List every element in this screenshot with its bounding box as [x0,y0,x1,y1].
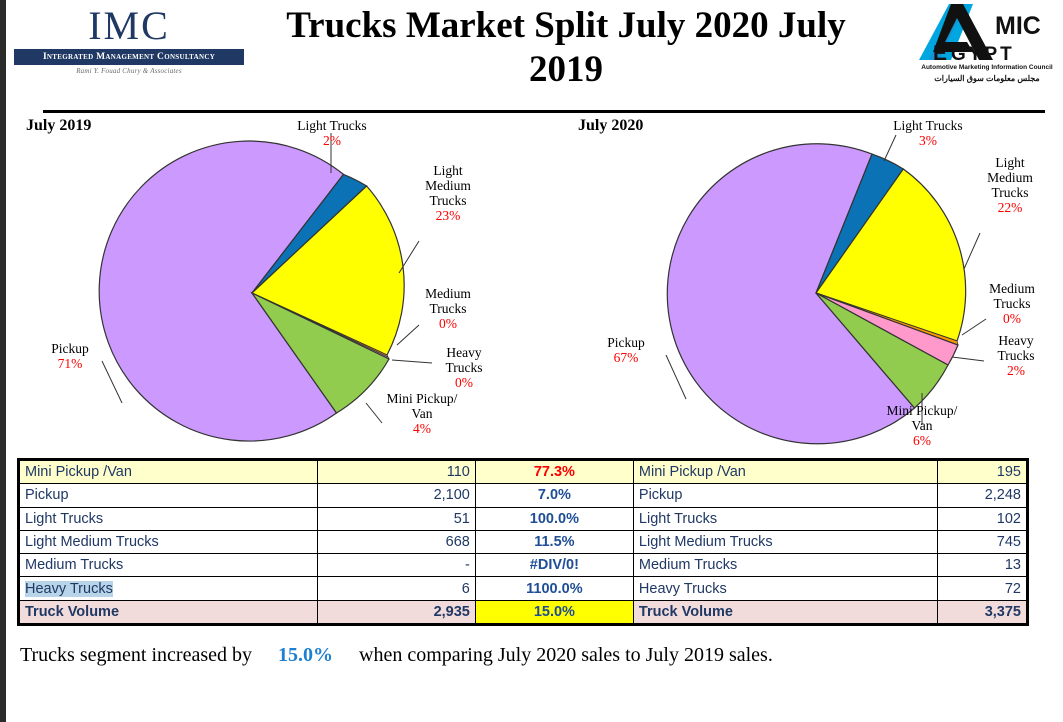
cell-name-left: Light Trucks [20,507,318,530]
svg-text:E: E [933,42,947,65]
amic-a-icon: MIC GYPT E [911,2,1063,66]
summary-part1: Trucks segment increased by [20,644,252,666]
cell-value-2020: 745 [937,530,1026,553]
cell-name-right: Heavy Trucks [633,577,937,600]
comparison-table: Mini Pickup /Van 110 77.3% Mini Pickup /… [17,458,1029,626]
pie-left-label-medium-trucks: Medium Trucks 0% [400,286,496,331]
pie-left-label-pickup: Pickup 71% [32,341,108,371]
summary-part2: when comparing July 2020 sales to July 2… [359,644,773,666]
imc-wordmark: IMC [14,4,244,48]
table-row[interactable]: Light Medium Trucks 668 11.5% Light Medi… [20,530,1027,553]
cell-name-left: Heavy Trucks [20,577,318,600]
amic-tagline-ar: مجلس معلومات سوق السيارات [911,74,1063,83]
cell-change: 11.5% [475,530,633,553]
table-row[interactable]: Pickup 2,100 7.0% Pickup 2,248 [20,484,1027,507]
cell-value-2020: 72 [937,577,1026,600]
svg-text:GYPT: GYPT [951,44,1015,65]
imc-banner-text: Integrated Management Consultancy [14,49,244,65]
table-row[interactable]: Medium Trucks - #DIV/0! Medium Trucks 13 [20,554,1027,577]
charts-region: July 2019 [6,113,1063,453]
table-row[interactable]: Mini Pickup /Van 110 77.3% Mini Pickup /… [20,461,1027,484]
cell-value-2019: 110 [317,461,475,484]
pie-right-label-light-medium-trucks: Light Medium Trucks 22% [962,155,1058,215]
cell-name-left-highlighted: Heavy Trucks [25,581,113,597]
slide-header: IMC Integrated Management Consultancy Ra… [6,0,1063,104]
pie-left-label-light-trucks: Light Trucks 2% [262,118,402,148]
cell-name-left: Medium Trucks [20,554,318,577]
cell-name-left: Pickup [20,484,318,507]
cell-change: 1100.0% [475,577,633,600]
amic-tagline-en: Automotive Marketing Information Council [911,64,1063,71]
cell-change: #DIV/0! [475,554,633,577]
cell-name-right: Medium Trucks [633,554,937,577]
pie-right-label-mini-pickup-van: Mini Pickup/ Van 6% [866,403,978,448]
cell-value-2019: - [317,554,475,577]
pie-right-label-pickup: Pickup 67% [588,335,664,365]
cell-name-left: Mini Pickup /Van [20,461,318,484]
pie-chart-july-2019: July 2019 [14,113,539,453]
cell-name-left: Light Medium Trucks [20,530,318,553]
cell-name-right: Pickup [633,484,937,507]
pie-left-label-mini-pickup-van: Mini Pickup/ Van 4% [366,391,478,436]
table-row[interactable]: Light Trucks 51 100.0% Light Trucks 102 [20,507,1027,530]
cell-value-2020: 2,248 [937,484,1026,507]
summary-highlight: 15.0% [278,644,333,666]
pie-right-label-heavy-trucks: Heavy Trucks 2% [970,333,1062,378]
cell-value-2020: 102 [937,507,1026,530]
cell-value-2019: 6 [317,577,475,600]
cell-change: 7.0% [475,484,633,507]
imc-logo: IMC Integrated Management Consultancy Ra… [14,4,244,84]
cell-value-2020: 195 [937,461,1026,484]
cell-change: 100.0% [475,507,633,530]
cell-value-2020: 13 [937,554,1026,577]
pie-chart-july-2020: July 2020 [566,113,1063,453]
cell-value-2020: 3,375 [937,600,1026,623]
table-row-total[interactable]: Truck Volume 2,935 15.0% Truck Volume 3,… [20,600,1027,623]
cell-name-right: Light Trucks [633,507,937,530]
cell-value-2019: 2,935 [317,600,475,623]
cell-change: 77.3% [475,461,633,484]
cell-name-right: Mini Pickup /Van [633,461,937,484]
table-row[interactable]: Heavy Trucks 6 1100.0% Heavy Trucks 72 [20,577,1027,600]
svg-text:MIC: MIC [995,12,1041,40]
cell-value-2019: 2,100 [317,484,475,507]
pie-right-label-medium-trucks: Medium Trucks 0% [964,281,1060,326]
cell-value-2019: 51 [317,507,475,530]
imc-subline-text: Rami Y. Fouad Chury & Associates [14,67,244,75]
page-title: Trucks Market Split July 2020 July 2019 [256,4,876,92]
pie-left-label-light-medium-trucks: Light Medium Trucks 23% [400,163,496,223]
cell-name-right: Light Medium Trucks [633,530,937,553]
amic-logo-mark: MIC GYPT E [911,2,1063,66]
pie-right-label-light-trucks: Light Trucks 3% [858,118,998,148]
cell-name-right: Truck Volume [633,600,937,623]
slide-page: IMC Integrated Management Consultancy Ra… [0,0,1063,722]
amic-logo: MIC GYPT E Automotive Marketing Informat… [911,2,1063,94]
summary-text: Trucks segment increased by15.0%when com… [20,640,970,670]
cell-value-2019: 668 [317,530,475,553]
cell-change: 15.0% [475,600,633,623]
cell-name-left: Truck Volume [20,600,318,623]
pie-left-label-heavy-trucks: Heavy Trucks 0% [418,345,510,390]
